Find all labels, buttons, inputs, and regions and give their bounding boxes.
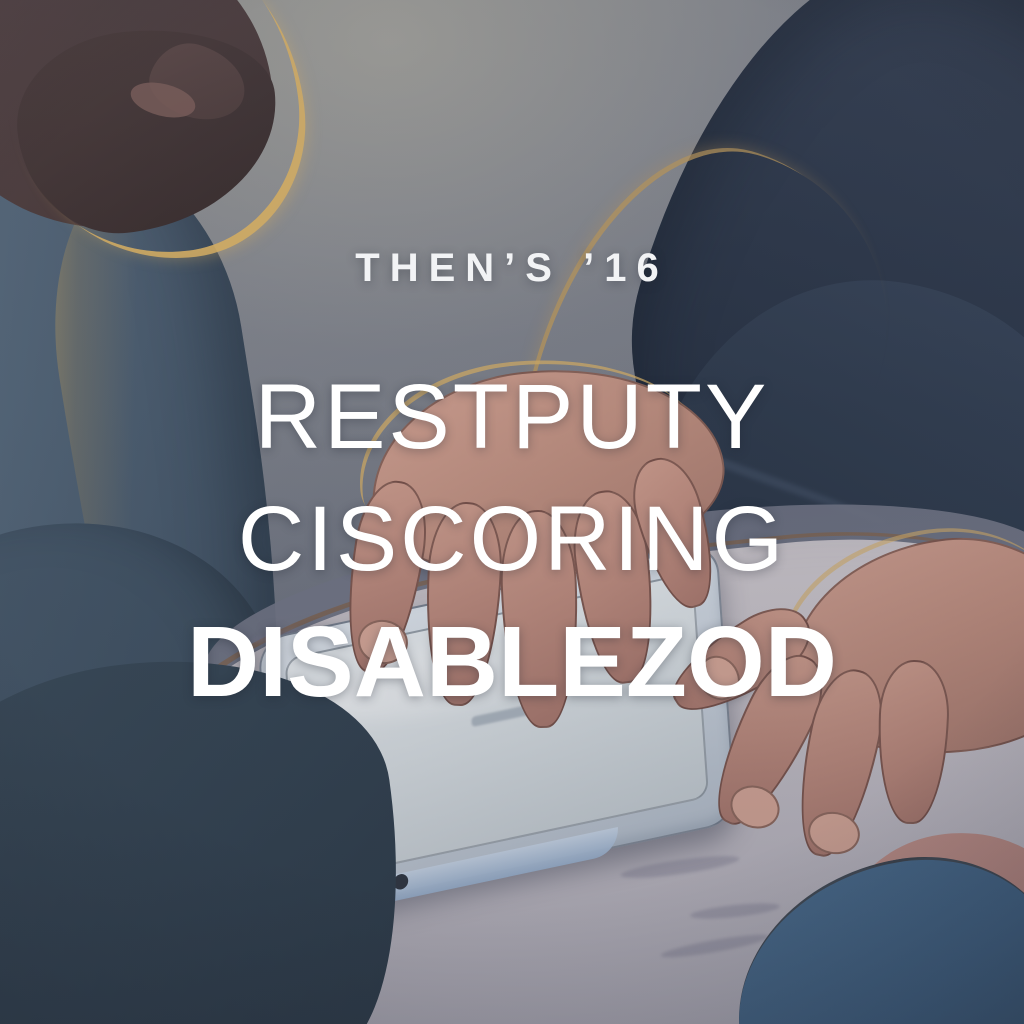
poster-image: THEN’S ’16 RESTPUTY CISCORING DISABLEZOD (0, 0, 1024, 1024)
headline-line-2: CISCORING (0, 478, 1024, 600)
headline-emphasis: DISABLEZOD (0, 601, 1024, 723)
poster-text-block: THEN’S ’16 RESTPUTY CISCORING DISABLEZOD (0, 248, 1024, 723)
eyebrow-text: THEN’S ’16 (0, 248, 1024, 288)
headline-line-1: RESTPUTY (0, 356, 1024, 478)
